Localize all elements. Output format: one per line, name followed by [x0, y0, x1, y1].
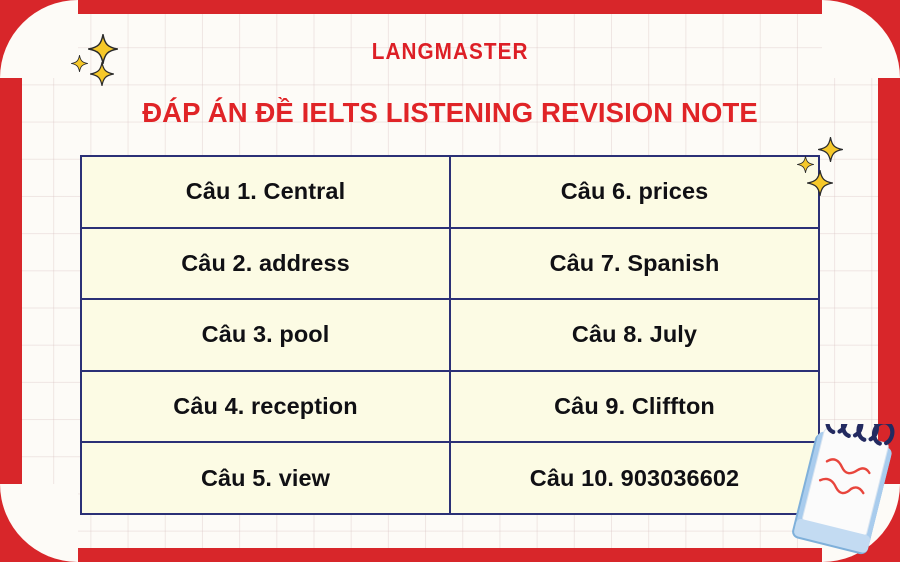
brand-logo-text: LANGMASTER	[372, 40, 529, 63]
table-row: Câu 5. view Câu 10. 903036602	[81, 442, 819, 514]
answer-cell-3: Câu 3. pool	[81, 299, 450, 371]
answer-cell-1: Câu 1. Central	[81, 156, 450, 228]
answer-cell-8: Câu 8. July	[450, 299, 819, 371]
frame-corner-bottom-left	[0, 484, 78, 562]
answer-cell-9: Câu 9. Cliffton	[450, 371, 819, 443]
answer-cell-4: Câu 4. reception	[81, 371, 450, 443]
frame-corner-top-right	[822, 0, 900, 78]
table-row: Câu 1. Central Câu 6. prices	[81, 156, 819, 228]
poster-canvas: LANGMASTER ĐÁP ÁN ĐỀ IELTS LISTENING REV…	[0, 0, 900, 562]
frame-corner-bottom-right	[822, 484, 900, 562]
answer-cell-2: Câu 2. address	[81, 228, 450, 300]
frame-corner-top-left	[0, 0, 78, 78]
brand-logo: LANGMASTER	[0, 40, 900, 64]
answer-key-table: Câu 1. Central Câu 6. prices Câu 2. addr…	[80, 155, 820, 515]
answer-cell-7: Câu 7. Spanish	[450, 228, 819, 300]
table-row: Câu 3. pool Câu 8. July	[81, 299, 819, 371]
page-title: ĐÁP ÁN ĐỀ IELTS LISTENING REVISION NOTE	[0, 97, 900, 129]
answer-cell-10: Câu 10. 903036602	[450, 442, 819, 514]
answer-cell-5: Câu 5. view	[81, 442, 450, 514]
table-row: Câu 4. reception Câu 9. Cliffton	[81, 371, 819, 443]
table-row: Câu 2. address Câu 7. Spanish	[81, 228, 819, 300]
answer-cell-6: Câu 6. prices	[450, 156, 819, 228]
answer-table-body: Câu 1. Central Câu 6. prices Câu 2. addr…	[81, 156, 819, 514]
